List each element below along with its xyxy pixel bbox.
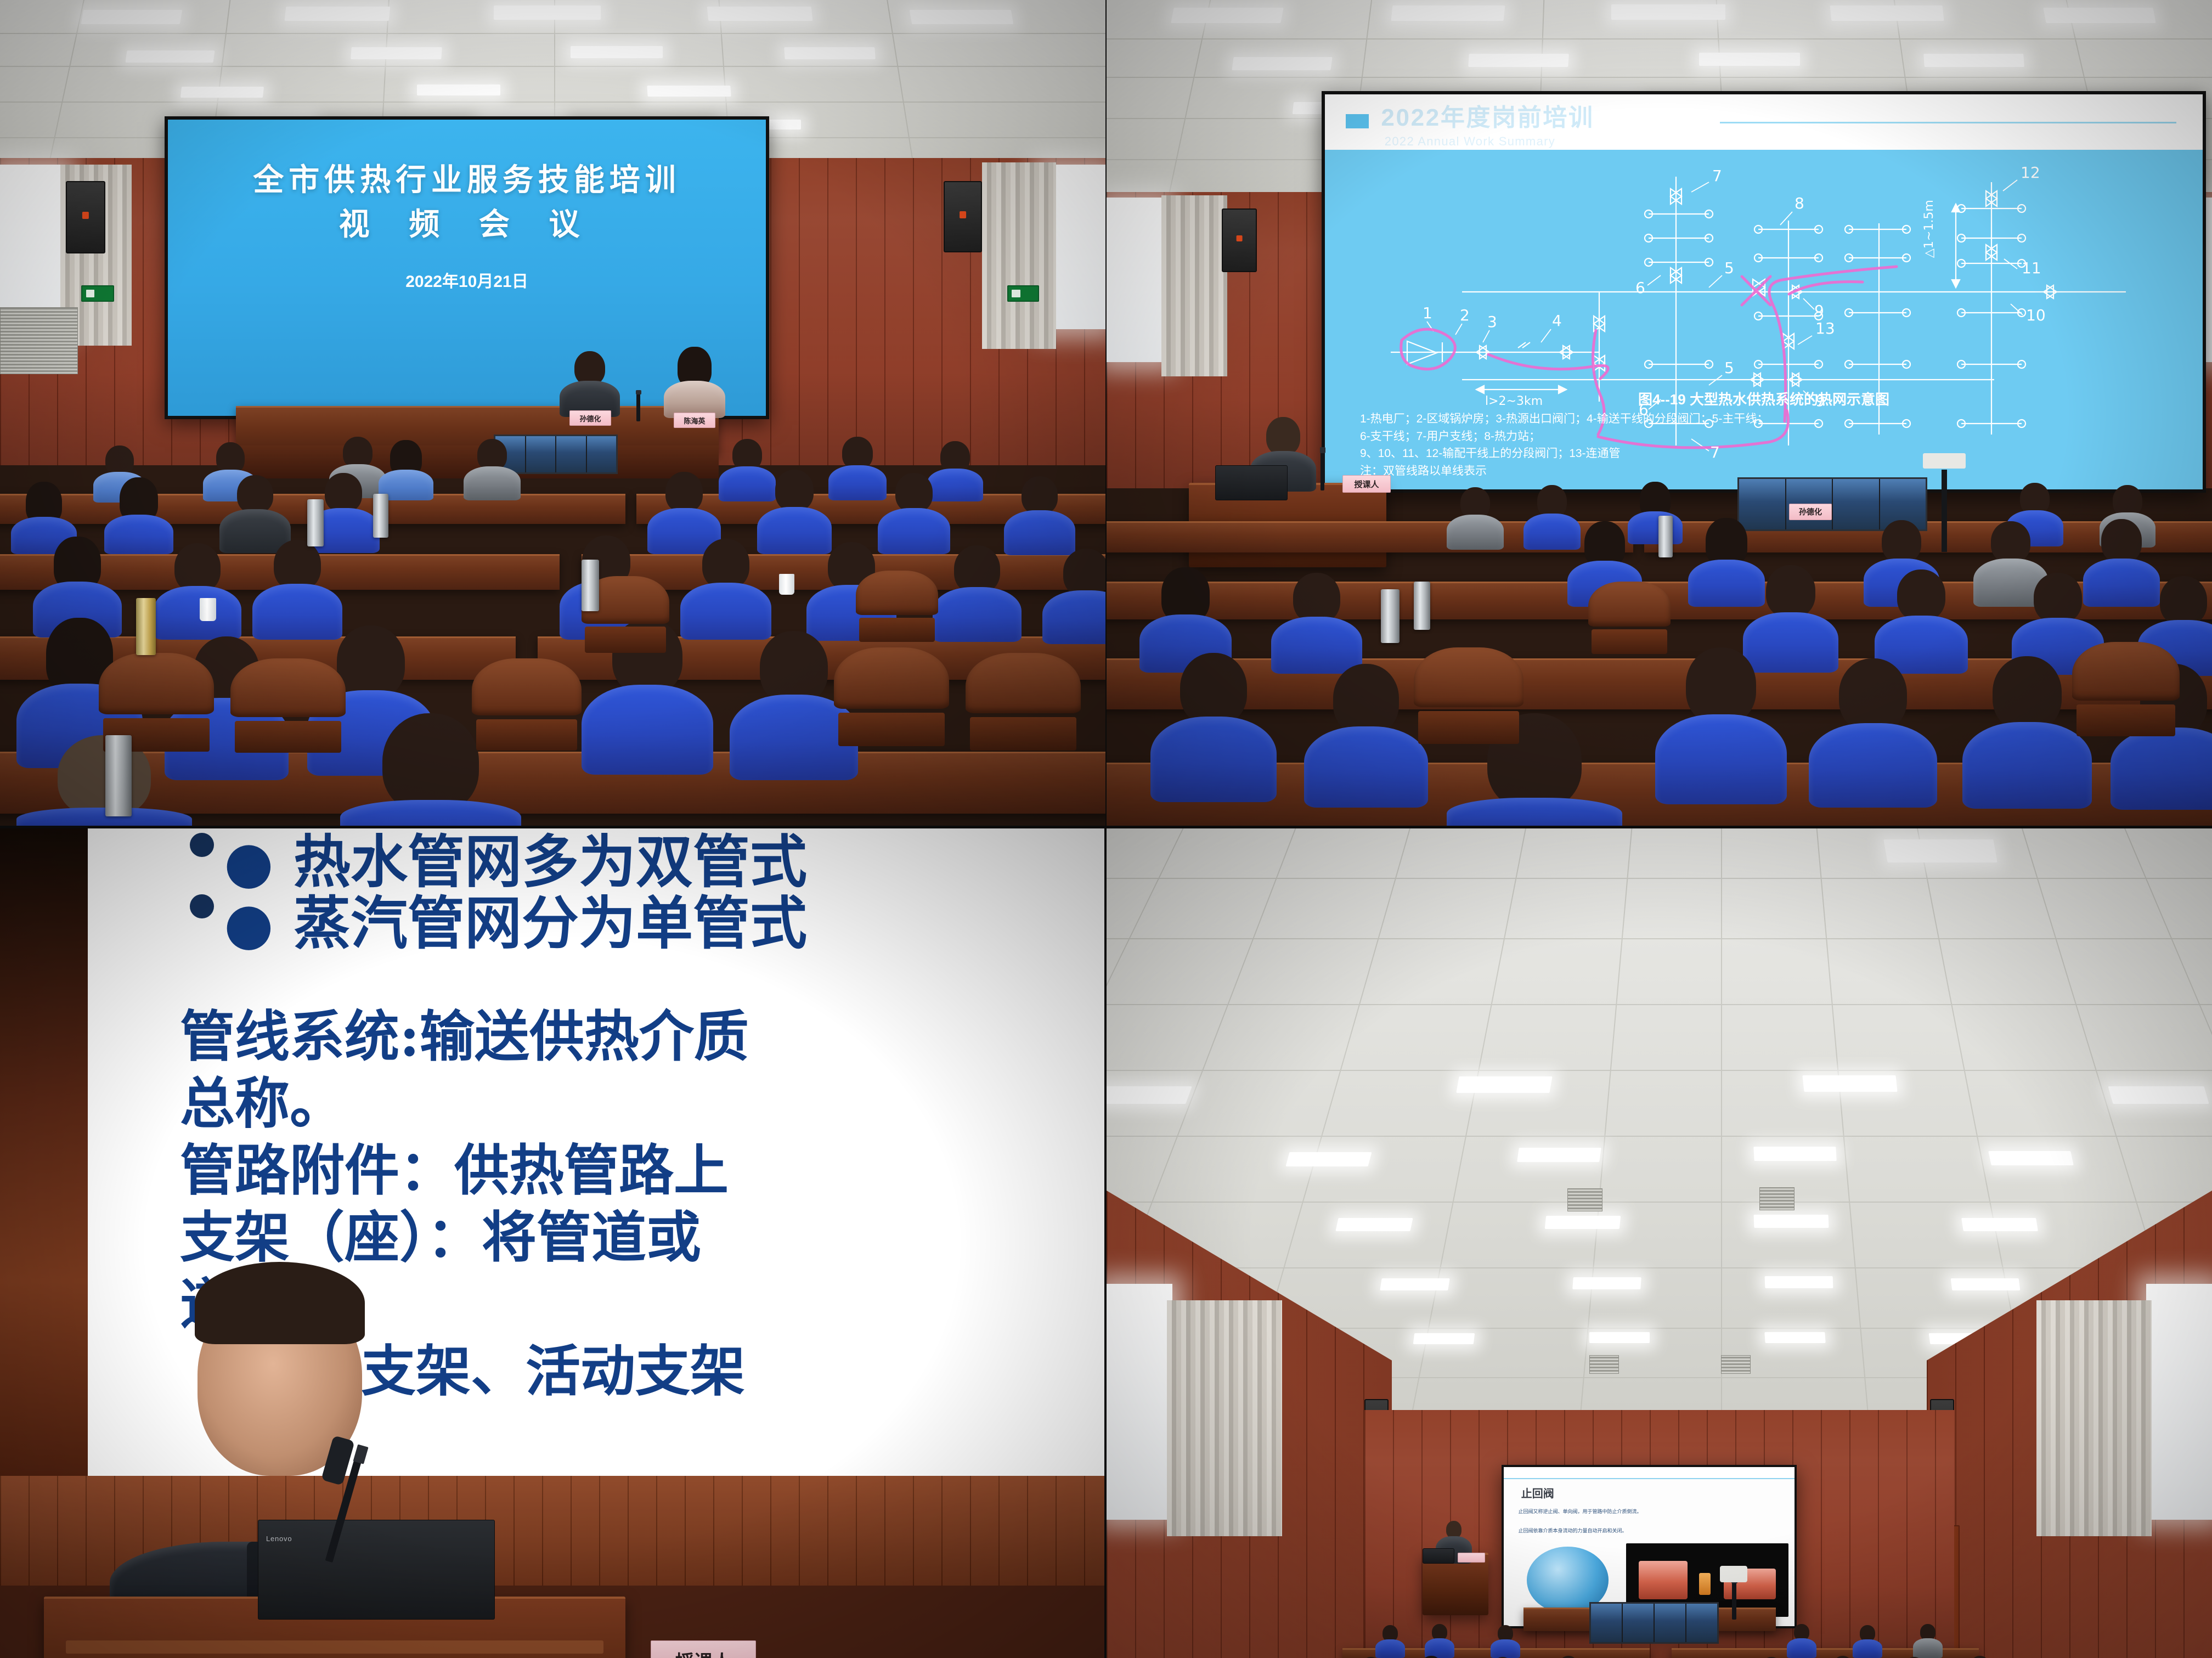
ceiling-light <box>1572 1277 1641 1289</box>
conference-camera <box>1923 453 1966 469</box>
chair <box>1414 647 1523 744</box>
ceiling-light <box>707 7 813 21</box>
attendee <box>1447 487 1504 550</box>
window <box>1107 1284 1172 1520</box>
ceiling-air-vent <box>1759 1187 1795 1210</box>
svg-text:4: 4 <box>1552 312 1562 330</box>
attendee <box>1375 1625 1405 1658</box>
svg-text:8: 8 <box>1795 194 1804 212</box>
jbl-speaker <box>1222 208 1257 272</box>
nameplate-head-right: 陈海英 <box>674 413 715 428</box>
ceiling-light <box>1545 1216 1621 1229</box>
attendee <box>1787 1624 1816 1658</box>
ceiling-light <box>1883 839 1997 862</box>
slide-bullet-1: 止回阀又称逆止阀、单向阀，用于管路中防止介质倒流。 <box>1519 1508 1774 1516</box>
attendee <box>464 439 521 500</box>
thermos-flask <box>582 560 599 611</box>
ceiling-light <box>1802 1075 1897 1092</box>
ceiling-light <box>1589 1332 1650 1343</box>
bullet-point-icon <box>190 894 214 918</box>
svg-text:3: 3 <box>1487 313 1497 331</box>
laptop: Lenovo <box>258 1520 495 1620</box>
attendee <box>379 441 433 500</box>
ceiling-light <box>1391 5 1505 21</box>
air-grille <box>0 307 78 374</box>
slide-title: 止回阀 <box>1521 1485 1554 1501</box>
attendee <box>1042 549 1105 644</box>
ceiling-light <box>784 47 876 59</box>
ceiling-light <box>1468 54 1569 67</box>
ceiling-light <box>1951 1278 2021 1290</box>
svg-text:12: 12 <box>2021 163 2040 182</box>
ceiling-light <box>1961 1218 2038 1231</box>
curtain <box>2036 1300 2152 1536</box>
thermos-flask <box>105 735 132 816</box>
ceiling-light <box>125 50 215 63</box>
attendee <box>1304 664 1428 808</box>
attendee <box>1004 476 1075 555</box>
ceiling-light <box>1753 1147 1836 1161</box>
ceiling-light <box>1611 4 1725 20</box>
ceiling-light <box>351 47 442 59</box>
svg-text:6: 6 <box>1635 279 1645 297</box>
figure-caption: 图4--19 大型热水供热系统的热网示意图 <box>1325 388 2203 409</box>
nameplate-head-left: 孙德化 <box>569 410 611 426</box>
svg-text:7: 7 <box>1712 167 1722 185</box>
ceiling-light <box>1923 54 2024 67</box>
ceiling-light <box>180 87 264 98</box>
ceiling-light <box>1335 1218 1413 1231</box>
ceiling-light <box>2043 8 2155 23</box>
slide-heating-network: 2022年度岗前培训 2022 Annual Work Summary <box>1325 94 2203 489</box>
valve-body-cutaway <box>1639 1561 1688 1599</box>
ceiling-light <box>1232 57 1332 70</box>
thermos-flask <box>307 499 324 546</box>
valve-disc <box>1699 1573 1711 1595</box>
ceiling-air-vent <box>1567 1188 1602 1211</box>
laptop <box>1423 1548 1454 1564</box>
conference-camera <box>1720 1566 1747 1582</box>
ceiling-light <box>1765 1276 1833 1288</box>
tea-bottle <box>136 598 156 655</box>
ceiling-light <box>1699 53 1800 66</box>
paper-cup <box>200 598 216 621</box>
ceiling-light <box>1413 1333 1475 1344</box>
jbl-speaker <box>944 181 982 252</box>
paper-cup <box>779 574 794 595</box>
chair <box>856 571 938 642</box>
jbl-speaker <box>66 181 105 253</box>
exit-sign <box>81 285 114 302</box>
svg-text:△1~1.5m: △1~1.5m <box>1922 200 1936 258</box>
video-conference-wall <box>1589 1602 1719 1644</box>
ceiling-light <box>494 5 601 20</box>
attendee <box>1913 1624 1943 1658</box>
slide-header-band <box>1504 1467 1795 1479</box>
ceiling-light <box>647 86 731 97</box>
chair <box>1588 582 1671 654</box>
chair <box>2072 642 2180 736</box>
ceiling-air-vent <box>1721 1355 1751 1374</box>
nameplate-on-table: 孙德化 <box>1789 504 1832 520</box>
attendee <box>1425 1624 1454 1658</box>
ceiling-light <box>2108 1086 2209 1104</box>
nameplate-instructor: 授课人 <box>1342 475 1391 493</box>
panel-training-room-schematic: 2022年度岗前培训 2022 Annual Work Summary <box>1107 0 2212 826</box>
ceiling-light <box>1107 1086 1192 1104</box>
attendee <box>252 540 342 640</box>
ceiling-light <box>417 84 500 95</box>
legend-line-2: 6-支干线；7-用户支线；8-热力站； <box>1360 428 2185 445</box>
attendee <box>1551 1656 1586 1658</box>
attendee <box>1655 647 1787 804</box>
attendee <box>1491 1625 1520 1658</box>
svg-text:10: 10 <box>2026 306 2046 324</box>
ceiling-light <box>1830 5 1944 21</box>
ceiling-light <box>285 7 391 21</box>
ceiling-air-vent <box>1589 1355 1619 1374</box>
window <box>0 165 66 329</box>
slide-title-line-1: 全市供热行业服务技能培训 <box>168 155 766 200</box>
thermos-flask <box>1381 589 1400 643</box>
side-wall <box>0 828 88 1476</box>
laptop-brand: Lenovo <box>266 1535 290 1543</box>
curtain <box>1161 195 1227 376</box>
attendee <box>933 545 1022 642</box>
attendee <box>1809 658 1937 808</box>
attendee <box>1962 1656 1997 1658</box>
svg-text:9: 9 <box>1814 302 1824 320</box>
head-table-person-left <box>560 351 620 417</box>
chair <box>472 658 582 751</box>
photo-collage: 全市供热行业服务技能培训 视 频 会 议 2022年10月21日 孙德化 陈海英 <box>0 0 2212 1658</box>
ceiling-light <box>1286 1152 1372 1166</box>
laptop <box>1215 465 1288 500</box>
panel-lecture-hall-wide: 止回阀 止回阀又称逆止阀、单向阀，用于管路中防止介质倒流。 止回阀依靠介质本身流… <box>1107 828 2212 1658</box>
slide-date: 2022年10月21日 <box>168 268 766 292</box>
thermos-flask <box>1658 516 1673 557</box>
ceiling-light <box>81 10 183 24</box>
podium-trim <box>66 1640 603 1654</box>
slide-line-2: ● 蒸汽管网分为单管式 <box>224 877 807 960</box>
ceiling-light <box>910 10 1014 24</box>
attendee <box>1271 573 1362 674</box>
microphone <box>1732 1581 1736 1620</box>
ceiling-light <box>1456 1076 1552 1093</box>
ceiling-light <box>1764 1332 1825 1343</box>
panel-video-conference-main-hall: 全市供热行业服务技能培训 视 频 会 议 2022年10月21日 孙德化 陈海英 <box>0 0 1105 826</box>
chair <box>834 647 949 746</box>
ceiling-light <box>1517 1148 1601 1162</box>
nameplate-instructor: 授课人 <box>651 1640 756 1658</box>
bullet-point-icon <box>190 833 214 857</box>
ceiling-light <box>1171 8 1283 23</box>
attendee <box>1853 1625 1882 1658</box>
figure-legend: 1-热电厂；2-区域锅炉房；3-热源出口阀门；4-输送干线的分段阀门；5-主干线… <box>1360 410 2185 480</box>
window <box>1107 198 1167 362</box>
microphone <box>636 393 640 421</box>
attendee <box>1150 653 1277 802</box>
panel-instructor-at-podium: ● 热水管网多为双管式 ● 蒸汽管网分为单管式 管线系统:输送供热介质 总称。 … <box>0 828 1104 1658</box>
ceiling-light <box>1380 1278 1449 1290</box>
instructor-hair <box>195 1262 365 1344</box>
attendee <box>1825 1656 1860 1658</box>
attendee <box>1414 1656 1449 1658</box>
curtain <box>982 162 1056 349</box>
ceiling-light <box>1754 1215 1829 1228</box>
svg-text:11: 11 <box>2022 259 2041 277</box>
slide-bullet-2: 止回阀依靠介质本身流动的力量自动开启和关闭。 <box>1519 1527 1774 1535</box>
slide-title-line-2: 视 频 会 议 <box>168 200 766 244</box>
svg-text:5: 5 <box>1724 259 1734 277</box>
legend-line-3: 9、10、11、12-输配干线上的分段阀门；13-连通管 <box>1360 445 2185 463</box>
chair <box>230 658 346 753</box>
ceiling-light <box>1988 1151 2074 1165</box>
curtain <box>1167 1300 1282 1536</box>
svg-text:1: 1 <box>1423 304 1432 322</box>
svg-text:2: 2 <box>1460 306 1470 324</box>
attendee <box>154 543 241 640</box>
head-table-person-right <box>664 349 725 418</box>
projection-screen: 2022年度岗前培训 2022 Annual Work Summary <box>1322 91 2206 493</box>
svg-text:5: 5 <box>1724 359 1734 377</box>
camera-tripod <box>1942 470 1947 552</box>
thermos-flask <box>1414 582 1430 630</box>
ceiling-light <box>571 46 663 58</box>
svg-text:13: 13 <box>1815 319 1835 337</box>
nameplate-instructor <box>1458 1553 1485 1563</box>
chair <box>966 653 1081 751</box>
exit-sign <box>1007 285 1039 302</box>
window <box>2146 1284 2212 1520</box>
thermos-flask <box>373 494 388 538</box>
legend-line-1: 1-热电厂；2-区域锅炉房；3-热源出口阀门；4-输送干线的分段阀门；5-主干线… <box>1360 410 2185 428</box>
microphone <box>1321 451 1324 490</box>
